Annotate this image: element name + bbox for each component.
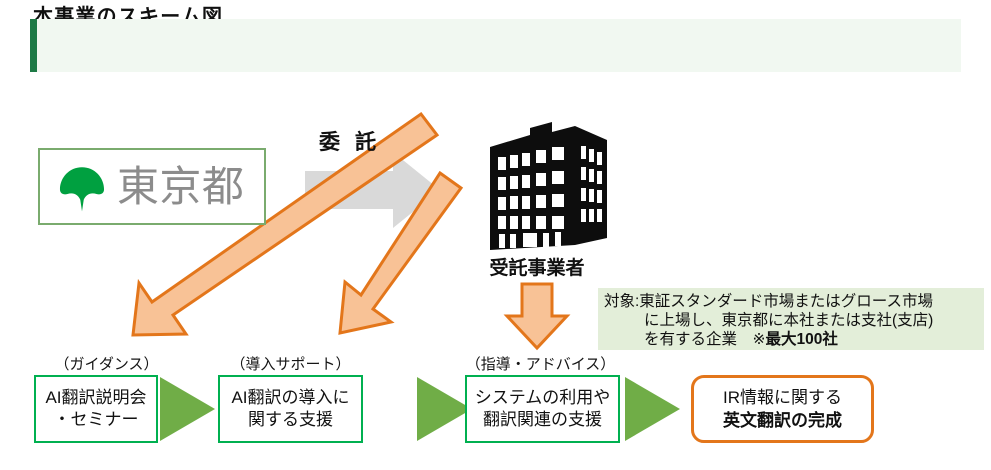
step-arrow-3-icon bbox=[625, 377, 680, 441]
step-2-caption: （導入サポート） bbox=[218, 353, 363, 374]
eligibility-criteria-box: 対象:東証スタンダード市場またはグロース市場 に上場し、東京都に本社または支社(… bbox=[598, 288, 984, 350]
criteria-line-2: に上場し、東京都に本社または支社(支店) bbox=[604, 311, 978, 330]
criteria-line-1: 対象:東証スタンダード市場またはグロース市場 bbox=[604, 292, 978, 311]
step-2-line-1: AI翻訳の導入に bbox=[231, 387, 349, 409]
contractor-label: 受託事業者 bbox=[467, 253, 607, 280]
scheme-diagram: 東京都 委 託 受託事業者 対象:東証スタンダード市場またはグロース市場 に上場… bbox=[0, 0, 991, 470]
ginkgo-leaf-icon bbox=[53, 158, 111, 216]
step-2-line-2: 関する支援 bbox=[248, 409, 333, 431]
final-line-2: 英文翻訳の完成 bbox=[723, 409, 842, 432]
office-building-icon bbox=[490, 122, 607, 250]
step-arrow-2-icon bbox=[417, 377, 472, 441]
step-3-line-2: 翻訳関連の支援 bbox=[483, 409, 602, 431]
step-3-caption: （指導・アドバイス） bbox=[463, 353, 618, 374]
orange-arrow-to-step2-icon bbox=[340, 173, 461, 333]
step-1-box: AI翻訳説明会 ・セミナー bbox=[34, 375, 158, 443]
step-arrow-1-icon bbox=[160, 377, 215, 441]
step-1-line-1: AI翻訳説明会 bbox=[45, 387, 146, 409]
criteria-line-3-prefix: を有する企業 ※ bbox=[644, 331, 766, 348]
step-3-box: システムの利用や 翻訳関連の支援 bbox=[465, 375, 620, 443]
step-3-line-1: システムの利用や bbox=[475, 387, 611, 409]
tokyo-logo-text: 東京都 bbox=[117, 166, 244, 208]
final-outcome-box: IR情報に関する 英文翻訳の完成 bbox=[691, 375, 874, 443]
commission-arrow-label: 委 託 bbox=[319, 126, 381, 156]
step-2-box: AI翻訳の導入に 関する支援 bbox=[218, 375, 363, 443]
step-1-line-2: ・セミナー bbox=[54, 409, 139, 431]
criteria-line-3: を有する企業 ※最大100社 bbox=[604, 330, 978, 349]
orange-arrow-to-step3-icon bbox=[507, 284, 567, 348]
commission-arrow-icon bbox=[305, 152, 440, 228]
step-1-caption: （ガイダンス） bbox=[34, 353, 179, 374]
tokyo-metropolitan-logo: 東京都 bbox=[38, 148, 266, 225]
criteria-max-companies: 最大100社 bbox=[766, 331, 838, 348]
final-line-1: IR情報に関する bbox=[723, 386, 842, 409]
